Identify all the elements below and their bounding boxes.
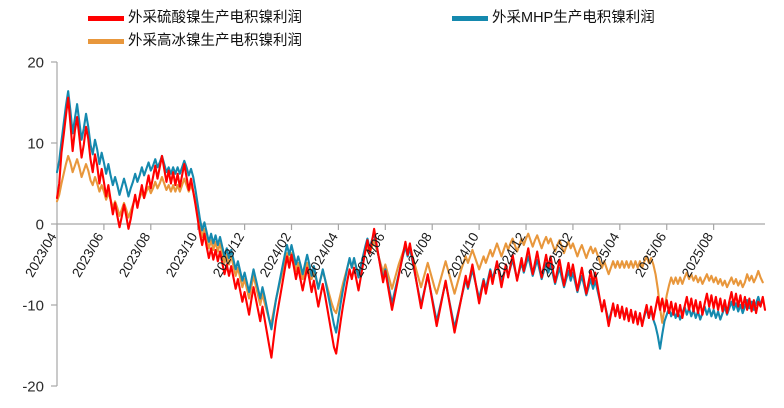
plot-svg: 20100-10-20 2023/042023/062023/082023/10… (0, 0, 784, 408)
y-tick-label: 0 (36, 217, 44, 234)
x-tick-label: 2023/08 (116, 230, 153, 280)
series-line-2 (57, 91, 763, 349)
y-tick-labels: 20100-10-20 (22, 55, 44, 396)
x-tick-label: 2023/04 (22, 230, 60, 280)
nickel-profit-line-chart: 外采硫酸镍生产电积镍利润 外采高冰镍生产电积镍利润 外采MHP生产电积镍利润 2… (0, 0, 784, 408)
x-tick-label: 2023/06 (69, 230, 106, 280)
plot-area: 20100-10-20 2023/042023/062023/082023/10… (0, 0, 784, 408)
x-tick-label: 2025/04 (585, 230, 623, 280)
x-tick-label: 2025/06 (632, 230, 669, 280)
y-tick-label: -20 (22, 379, 44, 396)
x-tick-labels: 2023/042023/062023/082023/102023/122024/… (22, 230, 716, 280)
y-tick-label: -10 (22, 298, 44, 315)
series-line-0 (57, 98, 765, 358)
x-tick-label: 2025/08 (679, 230, 716, 280)
y-axis (51, 62, 57, 386)
x-tick-label: 2023/10 (163, 230, 200, 280)
x-axis (57, 224, 765, 230)
y-tick-label: 20 (27, 55, 44, 72)
y-tick-label: 10 (27, 136, 44, 153)
x-tick-label: 2024/10 (444, 230, 481, 280)
